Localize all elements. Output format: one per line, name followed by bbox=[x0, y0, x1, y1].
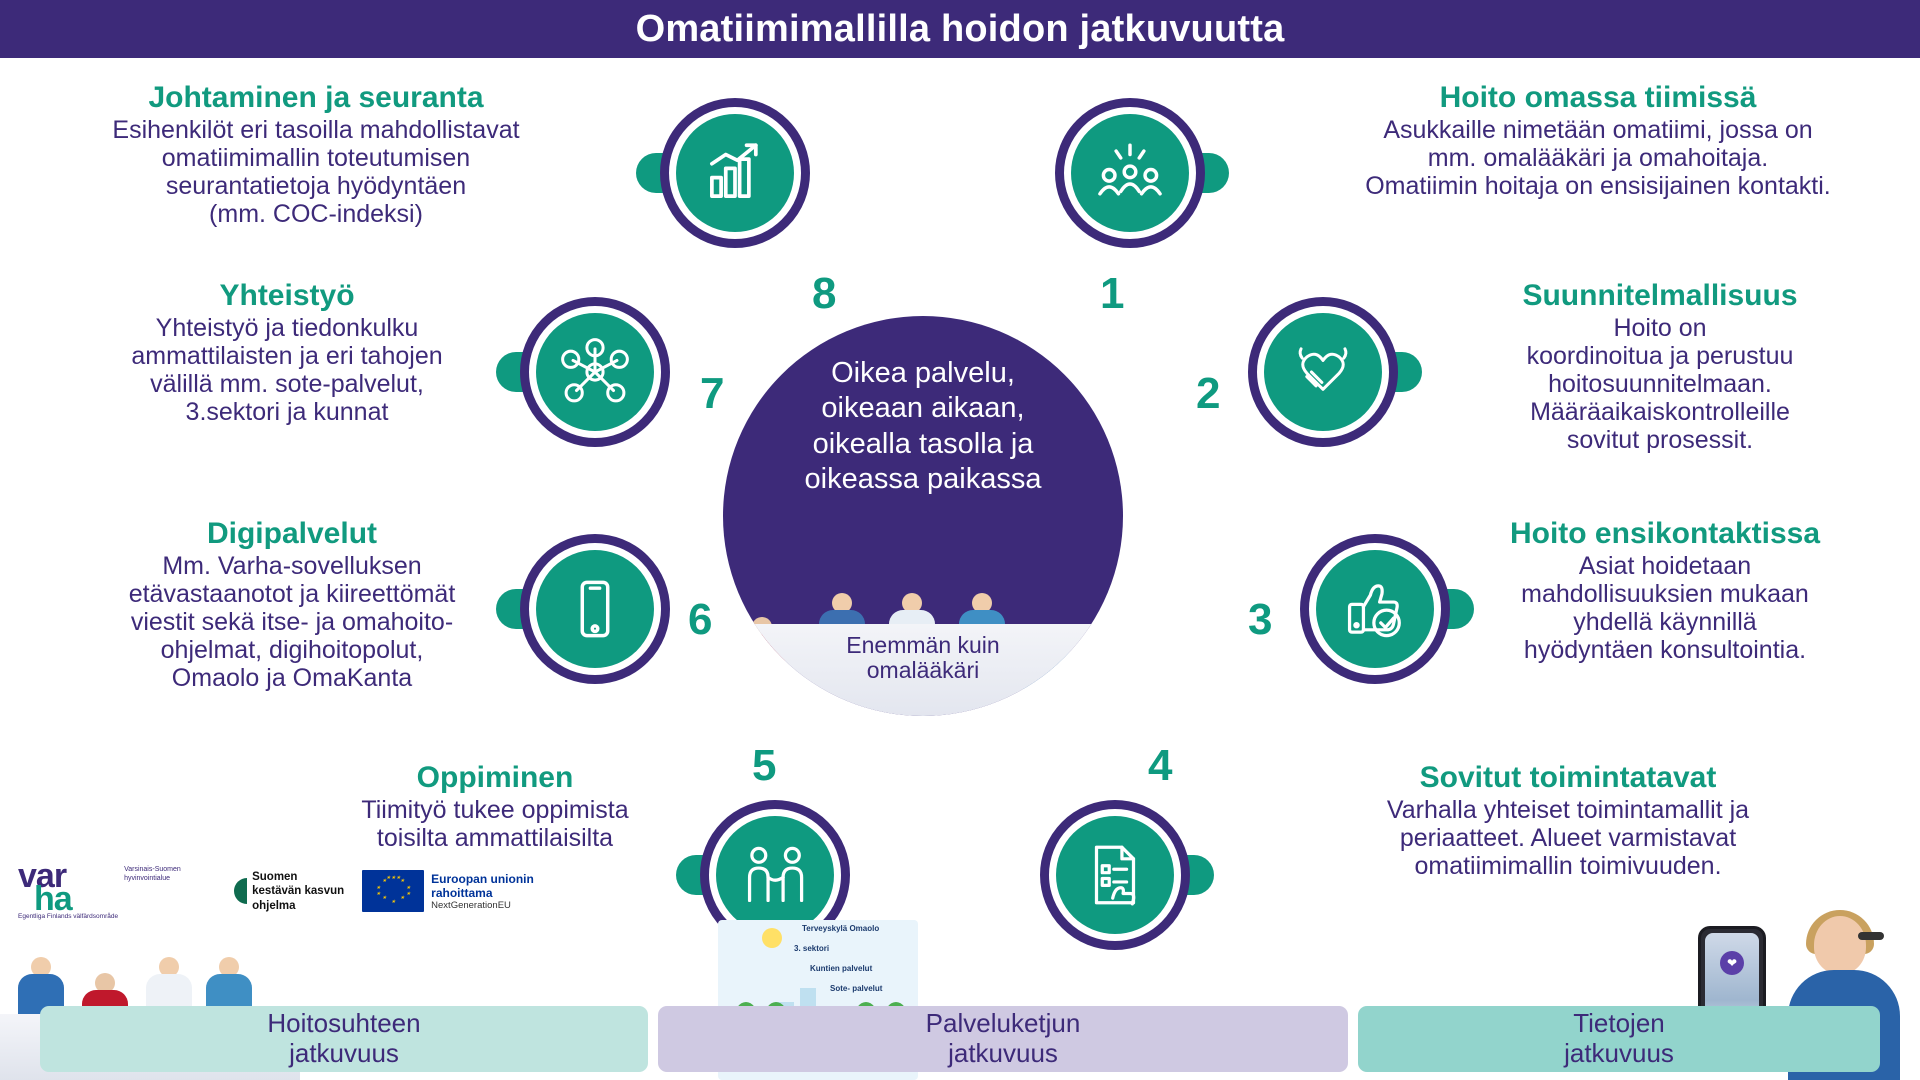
illustration-label-3-sektori: 3. sektori bbox=[794, 944, 829, 953]
step-1-heading: Hoito omassa tiimissä bbox=[1288, 82, 1908, 114]
step-1-text: Hoito omassa tiimissä Asukkaille nimetää… bbox=[1288, 82, 1908, 200]
step-7-heading: Yhteistyö bbox=[62, 280, 512, 312]
step-5-heading: Oppiminen bbox=[290, 762, 700, 794]
thumbs-up-check-icon bbox=[1316, 550, 1434, 668]
step-4-body: Varhalla yhteiset toimintamallit ja peri… bbox=[1258, 796, 1878, 880]
infographic-root: Omatiimimallilla hoidon jatkuvuutta Joht… bbox=[0, 0, 1920, 1080]
illustration-label-terveyskyla: Terveyskylä Omaolo bbox=[802, 924, 879, 933]
banner-1-text: Hoitosuhteen jatkuvuus bbox=[40, 1006, 648, 1072]
step-7-badge[interactable] bbox=[520, 297, 670, 447]
team-people-icon bbox=[1071, 114, 1189, 232]
step-3-number: 3 bbox=[1248, 598, 1272, 642]
step-7-text: Yhteistyö Yhteistyö ja tiedonkulku ammat… bbox=[62, 280, 512, 426]
funding-logos: var ha Egentliga Finlands välfärdsområde… bbox=[18, 862, 534, 921]
network-people-icon bbox=[536, 313, 654, 431]
step-3-text: Hoito ensikontaktissa Asiat hoidetaan ma… bbox=[1440, 518, 1890, 664]
center-circle: Oikea palvelu, oikeaan aikaan, oikealla … bbox=[723, 316, 1123, 716]
step-2-heading: Suunnitelmallisuus bbox=[1440, 280, 1880, 312]
kestava-kasvu-logo: Suomen kestävän kasvun ohjelma bbox=[234, 870, 344, 913]
step-4-badge[interactable] bbox=[1040, 800, 1190, 950]
step-8-number: 8 bbox=[812, 272, 836, 316]
step-4-number: 4 bbox=[1148, 744, 1172, 788]
step-2-text: Suunnitelmallisuus Hoito on koordinoitua… bbox=[1440, 280, 1880, 454]
step-3-heading: Hoito ensikontaktissa bbox=[1440, 518, 1890, 550]
step-3-body: Asiat hoidetaan mahdollisuuksien mukaan … bbox=[1440, 552, 1890, 664]
varha-logo-sub: Varsinais-Suomen hyvinvointialue bbox=[124, 862, 216, 884]
banner-2-text: Palveluketjun jatkuvuus bbox=[658, 1006, 1348, 1072]
eu-logo-text: Euroopan unionin rahoittama NextGenerati… bbox=[431, 872, 534, 912]
banner-hoitosuhteen-jatkuvuus[interactable]: Hoitosuhteen jatkuvuus bbox=[40, 1006, 648, 1072]
step-6-heading: Digipalvelut bbox=[62, 518, 522, 550]
step-4-heading: Sovitut toimintatavat bbox=[1258, 762, 1878, 794]
step-5-text: Oppiminen Tiimityö tukee oppimista toisi… bbox=[290, 762, 700, 852]
step-4-text: Sovitut toimintatavat Varhalla yhteiset … bbox=[1258, 762, 1878, 880]
sun-icon bbox=[762, 928, 782, 948]
step-1-body: Asukkaille nimetään omatiimi, jossa on m… bbox=[1288, 116, 1908, 200]
document-hand-icon bbox=[1056, 816, 1174, 934]
step-6-text: Digipalvelut Mm. Varha-sovelluksen etäva… bbox=[62, 518, 522, 692]
step-6-number: 6 bbox=[688, 598, 712, 642]
eu-flag-icon: ★ ★ ★ ★ ★ ★ ★ ★ ★ ★ ★ ★ bbox=[362, 870, 424, 912]
step-1-badge[interactable] bbox=[1055, 98, 1205, 248]
banner-3-text: Tietojen jatkuvuus bbox=[1358, 1006, 1880, 1072]
step-6-badge[interactable] bbox=[520, 534, 670, 684]
headset-icon bbox=[1858, 932, 1884, 940]
illustration-label-sote-palvelut: Sote- palvelut bbox=[830, 984, 882, 993]
step-3-badge[interactable] bbox=[1300, 534, 1450, 684]
step-7-body: Yhteistyö ja tiedonkulku ammattilaisten … bbox=[62, 314, 512, 426]
heart-icon: ❤ bbox=[1720, 951, 1744, 975]
step-8-heading: Johtaminen ja seuranta bbox=[56, 82, 576, 114]
step-6-body: Mm. Varha-sovelluksen etävastaanotot ja … bbox=[62, 552, 522, 692]
step-2-body: Hoito on koordinoitua ja perustuu hoitos… bbox=[1440, 314, 1880, 454]
step-8-body: Esihenkilöt eri tasoilla mahdollistavat … bbox=[56, 116, 576, 228]
page-title: Omatiimimallilla hoidon jatkuvuutta bbox=[636, 8, 1285, 51]
step-5-body: Tiimityö tukee oppimista toisilta ammatt… bbox=[290, 796, 700, 852]
step-1-number: 1 bbox=[1100, 272, 1124, 316]
step-5-number: 5 bbox=[752, 744, 776, 788]
illustration-label-kuntien-palvelut: Kuntien palvelut bbox=[810, 964, 872, 973]
step-7-number: 7 bbox=[700, 372, 724, 416]
handshake-heart-icon bbox=[1264, 313, 1382, 431]
page-title-bar: Omatiimimallilla hoidon jatkuvuutta bbox=[0, 0, 1920, 58]
step-8-badge[interactable] bbox=[660, 98, 810, 248]
growth-chart-icon bbox=[676, 114, 794, 232]
step-2-number: 2 bbox=[1196, 372, 1220, 416]
banner-palveluketjun-jatkuvuus[interactable]: Palveluketjun jatkuvuus bbox=[658, 1006, 1348, 1072]
varha-logo-foot: Egentliga Finlands välfärdsområde bbox=[18, 913, 118, 921]
banner-tietojen-jatkuvuus[interactable]: Tietojen jatkuvuus bbox=[1358, 1006, 1880, 1072]
step-8-text: Johtaminen ja seuranta Esihenkilöt eri t… bbox=[56, 82, 576, 228]
leaf-icon bbox=[234, 878, 247, 904]
kestava-kasvu-text: Suomen kestävän kasvun ohjelma bbox=[252, 870, 344, 913]
varha-logo: var ha Egentliga Finlands välfärdsområde… bbox=[18, 862, 216, 921]
center-tagline: Enemmän kuin omalääkäri bbox=[815, 629, 1031, 689]
smartphone-icon bbox=[536, 550, 654, 668]
center-statement: Oikea palvelu, oikeaan aikaan, oikealla … bbox=[723, 356, 1123, 498]
eu-logo: ★ ★ ★ ★ ★ ★ ★ ★ ★ ★ ★ ★ Euroopan unionin… bbox=[362, 870, 534, 912]
mentoring-people-icon bbox=[716, 816, 834, 934]
varha-logo-word2: ha bbox=[34, 880, 72, 918]
step-2-badge[interactable] bbox=[1248, 297, 1398, 447]
